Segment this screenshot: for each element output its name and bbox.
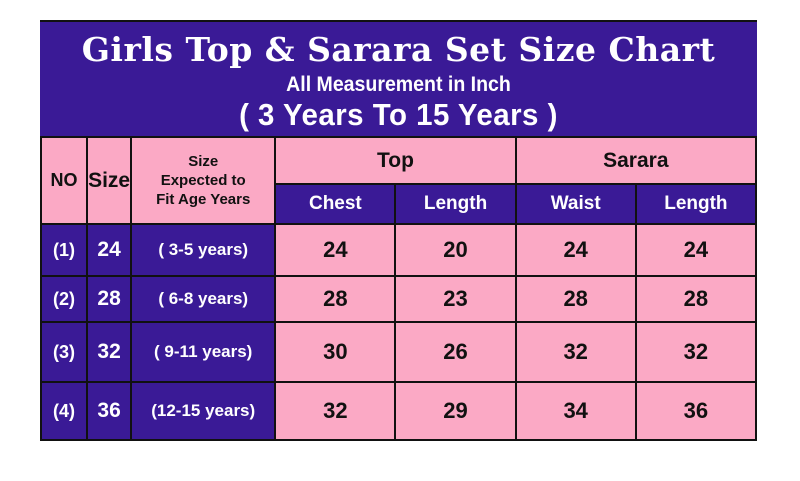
row-sarara-waist: 34 xyxy=(516,382,636,440)
header-no: NO xyxy=(41,137,87,224)
row-top-length: 20 xyxy=(395,224,515,276)
chart-banner: Girls Top & Sarara Set Size Chart All Me… xyxy=(40,20,757,136)
row-size: 24 xyxy=(87,224,131,276)
header-top-length: Length xyxy=(395,184,515,224)
table-row: (2) 28 ( 6-8 years) 28 23 28 28 xyxy=(41,276,756,322)
header-age-line1: Size xyxy=(132,152,274,171)
row-size: 28 xyxy=(87,276,131,322)
row-top-chest: 28 xyxy=(275,276,395,322)
chart-subtitle-measurement: All Measurement in Inch xyxy=(65,72,732,97)
size-chart-table: NO Size Size Expected to Fit Age Years T… xyxy=(40,136,757,441)
size-chart: Girls Top & Sarara Set Size Chart All Me… xyxy=(40,20,757,449)
row-top-length: 29 xyxy=(395,382,515,440)
header-age-line2: Expected to xyxy=(132,171,274,190)
row-no: (3) xyxy=(41,322,87,382)
row-age: ( 3-5 years) xyxy=(131,224,275,276)
table-row: (3) 32 ( 9-11 years) 30 26 32 32 xyxy=(41,322,756,382)
row-sarara-waist: 32 xyxy=(516,322,636,382)
header-sarara-waist: Waist xyxy=(516,184,636,224)
row-top-chest: 24 xyxy=(275,224,395,276)
header-size: Size xyxy=(87,137,131,224)
row-size: 36 xyxy=(87,382,131,440)
row-age: ( 9-11 years) xyxy=(131,322,275,382)
row-sarara-length: 32 xyxy=(636,322,756,382)
table-row: (4) 36 (12-15 years) 32 29 34 36 xyxy=(41,382,756,440)
row-sarara-waist: 24 xyxy=(516,224,636,276)
chart-subtitle-age-range: ( 3 Years To 15 Years ) xyxy=(58,97,739,133)
row-no: (1) xyxy=(41,224,87,276)
chart-title: Girls Top & Sarara Set Size Chart xyxy=(40,22,757,72)
row-top-length: 23 xyxy=(395,276,515,322)
row-sarara-waist: 28 xyxy=(516,276,636,322)
row-sarara-length: 28 xyxy=(636,276,756,322)
row-no: (4) xyxy=(41,382,87,440)
row-top-chest: 30 xyxy=(275,322,395,382)
row-size: 32 xyxy=(87,322,131,382)
row-age: ( 6-8 years) xyxy=(131,276,275,322)
table-header-row-groups: NO Size Size Expected to Fit Age Years T… xyxy=(41,137,756,184)
header-group-top: Top xyxy=(275,137,515,184)
header-age-line3: Fit Age Years xyxy=(132,190,274,209)
header-group-sarara: Sarara xyxy=(516,137,756,184)
header-age: Size Expected to Fit Age Years xyxy=(131,137,275,224)
table-row: (1) 24 ( 3-5 years) 24 20 24 24 xyxy=(41,224,756,276)
row-sarara-length: 24 xyxy=(636,224,756,276)
row-no: (2) xyxy=(41,276,87,322)
header-top-chest: Chest xyxy=(275,184,395,224)
row-age: (12-15 years) xyxy=(131,382,275,440)
row-top-chest: 32 xyxy=(275,382,395,440)
row-sarara-length: 36 xyxy=(636,382,756,440)
row-top-length: 26 xyxy=(395,322,515,382)
header-sarara-length: Length xyxy=(636,184,756,224)
